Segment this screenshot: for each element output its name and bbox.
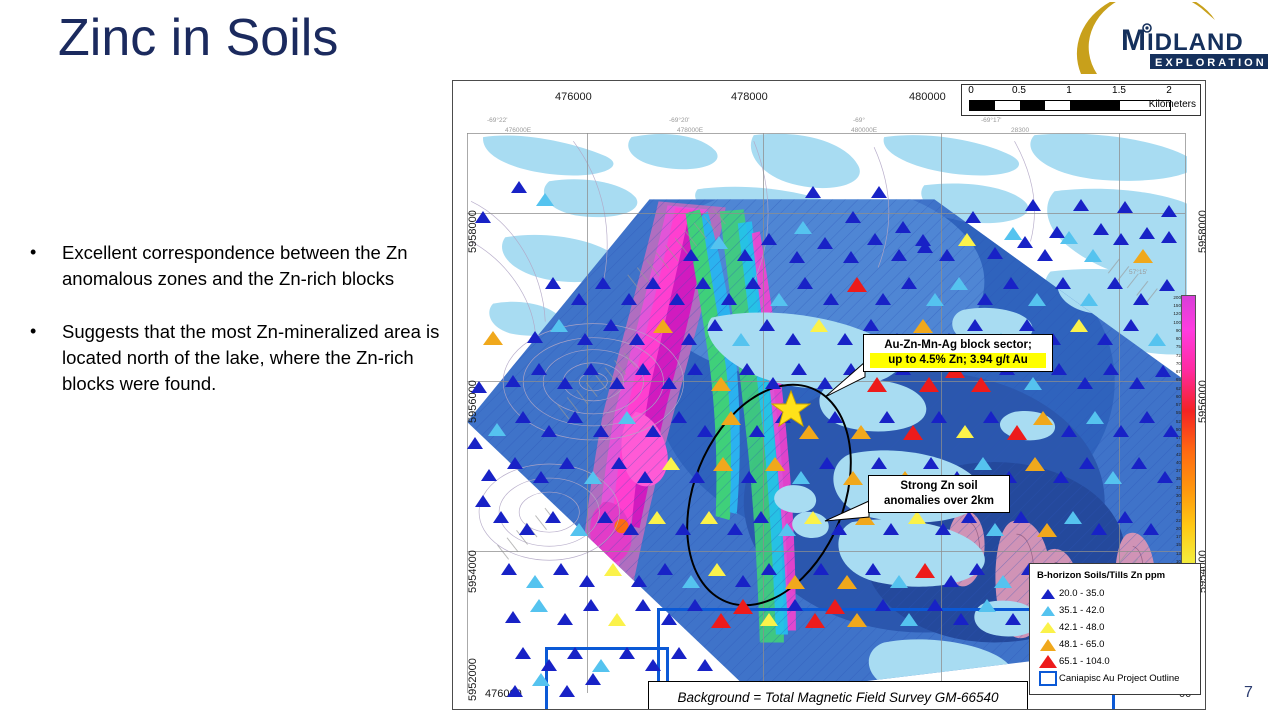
callout-zn-anomalies: Strong Zn soil anomalies over 2km xyxy=(868,475,1010,513)
page-title: Zinc in Soils xyxy=(58,8,338,68)
midland-exploration-logo: M IDLAND EXPLORATION xyxy=(1075,2,1275,76)
callout-line-1: Strong Zn soil xyxy=(875,479,1003,494)
callout-block-sector: Au-Zn-Mn-Ag block sector; up to 4.5% Zn;… xyxy=(863,334,1053,372)
map-caption: Background = Total Magnetic Field Survey… xyxy=(648,681,1028,710)
bullet-item: • Excellent correspondence between the Z… xyxy=(22,240,442,293)
bullet-marker: • xyxy=(22,319,62,398)
svg-text:EXPLORATION: EXPLORATION xyxy=(1155,57,1267,69)
callout-leader-lines xyxy=(453,81,1203,707)
svg-text:M: M xyxy=(1121,24,1146,57)
bullet-list: • Excellent correspondence between the Z… xyxy=(22,240,442,423)
bullet-text: Excellent correspondence between the Zn … xyxy=(62,240,442,293)
callout-line-1: Au-Zn-Mn-Ag block sector; xyxy=(870,338,1046,353)
svg-text:IDLAND: IDLAND xyxy=(1147,29,1244,56)
bullet-marker: • xyxy=(22,240,62,293)
callout-line-2: up to 4.5% Zn; 3.94 g/t Au xyxy=(870,353,1046,368)
callout-line-2: anomalies over 2km xyxy=(875,494,1003,509)
bullet-text: Suggests that the most Zn-mineralized ar… xyxy=(62,319,442,398)
map-figure: 476000 478000 480000 400 476000 00 59580… xyxy=(452,80,1206,710)
bullet-item: • Suggests that the most Zn-mineralized … xyxy=(22,319,442,398)
slide-number: 7 xyxy=(1244,684,1253,702)
